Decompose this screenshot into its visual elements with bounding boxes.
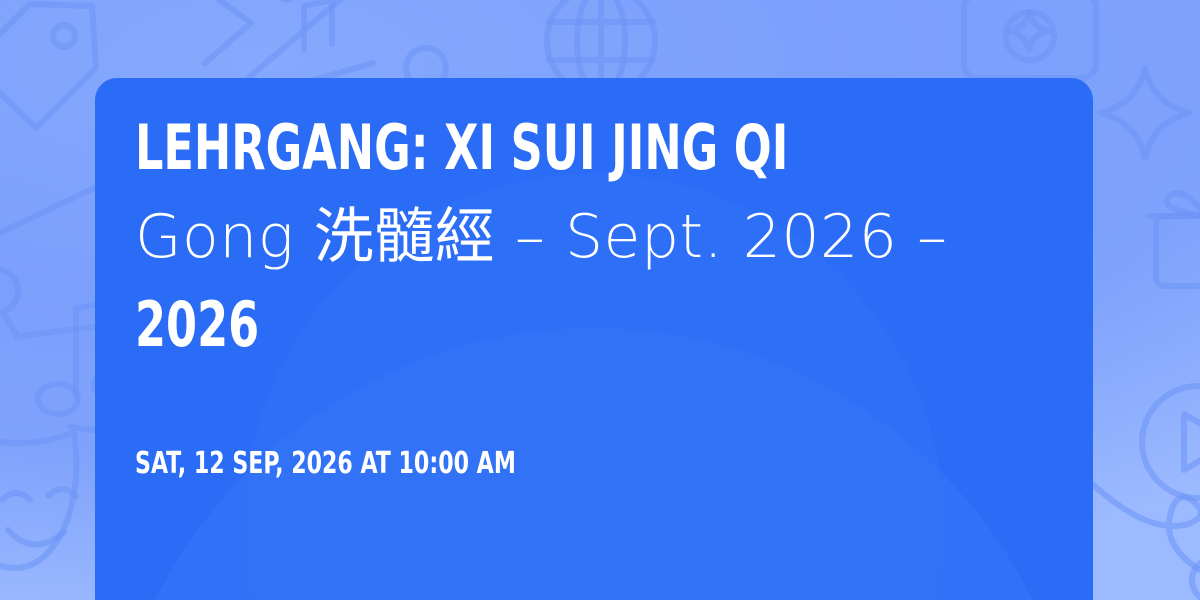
event-title-line-1: LEHRGANG: XI SUI JING QI	[135, 104, 1200, 193]
event-title-line-2: Gong 洗髓經 – Sept. 2026 –	[135, 193, 1200, 281]
sparkle-icon	[1006, 8, 1052, 54]
event-banner: LEHRGANG: XI SUI JING QI Gong 洗髓經 – Sept…	[0, 0, 1200, 600]
event-title-line-3: 2026	[135, 281, 1200, 370]
ribbon-swirl-icon	[1086, 460, 1200, 600]
event-date: SAT, 12 SEP, 2026 AT 10:00 AM	[135, 447, 599, 481]
music-note-icon	[280, 0, 350, 64]
event-title: LEHRGANG: XI SUI JING QI Gong 洗髓經 – Sept…	[135, 104, 1200, 370]
